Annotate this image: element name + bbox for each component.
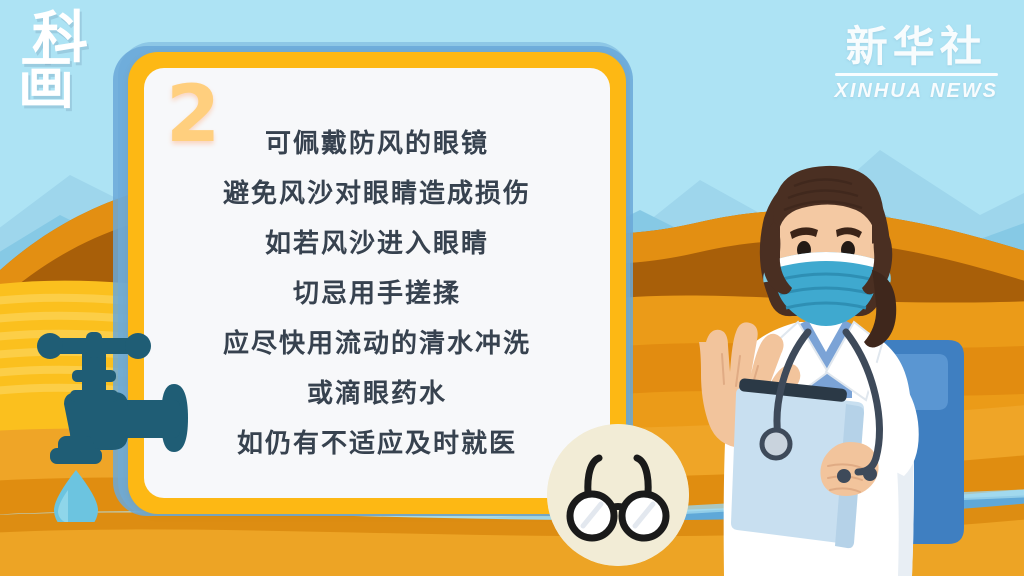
faucet-spout-lip: [50, 448, 102, 464]
faucet-handle-knob-left: [37, 333, 63, 359]
card-text-line: 如若风沙进入眼睛: [265, 220, 489, 268]
stethoscope-earpiece-2: [863, 467, 877, 481]
card-text-line: 或滴眼药水: [307, 370, 447, 418]
stethoscope-earpiece-1: [837, 469, 851, 483]
poster-canvas: 科 画 新华社 XINHUA NEWS 2 可佩戴防风的眼镜 避免风沙对眼睛造成…: [0, 0, 1024, 576]
card-text-line: 可佩戴防风的眼镜: [265, 120, 489, 168]
xinhua-news-logo: 新华社 XINHUA NEWS: [835, 24, 998, 103]
xinhua-logo-en: XINHUA NEWS: [835, 80, 998, 103]
faucet-icon: [24, 332, 204, 522]
kehua-logo: 科 画: [14, 16, 124, 108]
content-card-face: 2 可佩戴防风的眼镜 避免风沙对眼睛造成损伤 如若风沙进入眼睛 切忌用手搓揉 应…: [144, 68, 610, 498]
stethoscope-chestpiece: [762, 430, 790, 458]
xinhua-logo-cn: 新华社: [835, 24, 998, 70]
faucet-collar-2: [70, 390, 118, 402]
card-text-line: 切忌用手搓揉: [293, 270, 461, 318]
kehua-logo-char-2: 画: [18, 62, 124, 108]
card-text-line: 如仍有不适应及时就医: [237, 420, 517, 468]
doctor-illustration: [648, 140, 1024, 576]
card-text-block: 可佩戴防风的眼镜 避免风沙对眼睛造成损伤 如若风沙进入眼睛 切忌用手搓揉 应尽快…: [144, 120, 610, 468]
xinhua-logo-rule: [835, 73, 998, 76]
faucet-handle-stem: [86, 332, 102, 358]
card-text-line: 避免风沙对眼睛造成损伤: [223, 170, 531, 218]
faucet-collar-1: [72, 370, 116, 382]
faucet-handle-knob-right: [125, 333, 151, 359]
card-text-line: 应尽快用流动的清水冲洗: [223, 320, 531, 368]
